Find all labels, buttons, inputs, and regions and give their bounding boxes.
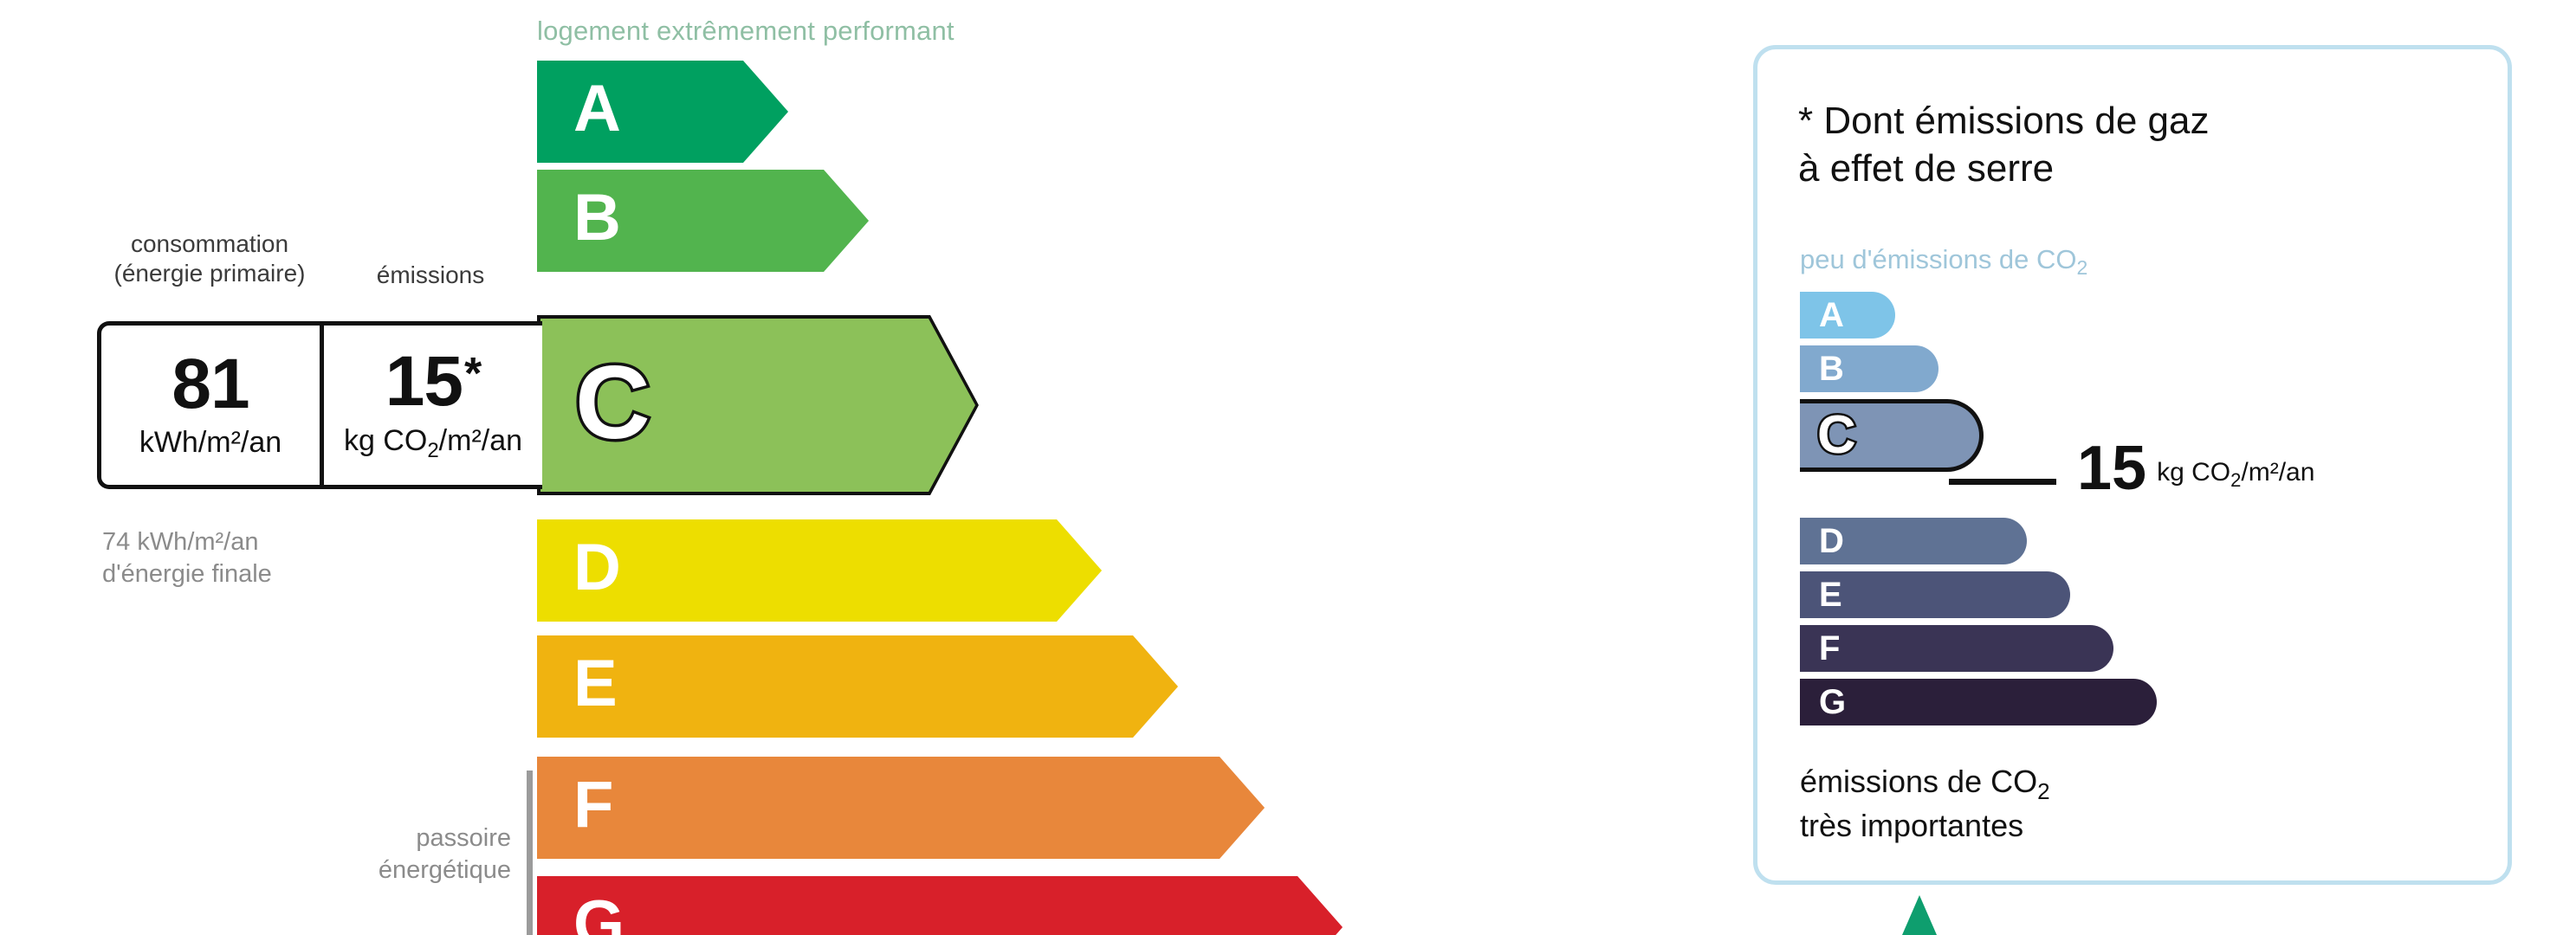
co2-scale-top-caption-text: peu d'émissions de CO xyxy=(1800,244,2077,274)
energy-class-letter-g: G xyxy=(573,892,625,935)
emission-unit-suffix: /m²/an xyxy=(439,424,522,457)
energy-class-letter-d: D xyxy=(573,535,621,601)
emission-asterisk: * xyxy=(464,351,481,397)
co2-value-number: 15 xyxy=(2077,440,2146,497)
consumption-value: 81 xyxy=(172,351,249,418)
co2-class-bar-e[interactable]: E xyxy=(1800,571,2070,618)
energy-class-bar-a[interactable]: A xyxy=(537,61,788,163)
co2-class-letter-g: G xyxy=(1819,683,1846,722)
co2-value-unit-prefix: kg CO xyxy=(2157,458,2230,487)
co2-class-letter-e: E xyxy=(1819,576,1842,615)
consumption-value-number: 81 xyxy=(172,351,249,418)
passoire-energetique-label: passoire énergétique xyxy=(286,822,511,887)
co2-card-title: * Dont émissions de gaz à effet de serre xyxy=(1798,97,2209,192)
consumption-header-label: consommation (énergie primaire) xyxy=(94,229,326,288)
energy-class-bar-f[interactable]: F xyxy=(537,757,1265,859)
co2-class-letter-a: A xyxy=(1819,296,1844,335)
final-energy-note: 74 kWh/m²/an d'énergie finale xyxy=(102,526,272,590)
emission-value-cell: 15* kg CO2/m²/an xyxy=(320,326,542,485)
co2-value-unit-suffix: /m²/an xyxy=(2241,458,2314,487)
energy-class-letter-b: B xyxy=(573,185,621,251)
co2-class-bar-c[interactable]: C xyxy=(1800,399,1984,472)
co2-footer-prefix: émissions de CO xyxy=(1800,764,2037,799)
co2-class-letter-d: D xyxy=(1819,522,1844,561)
co2-class-letter-c: C xyxy=(1817,409,1856,462)
passoire-bracket-line xyxy=(527,771,533,935)
energy-scale-top-caption: logement extrêmement performant xyxy=(537,16,955,47)
consumption-value-cell: 81 kWh/m²/an xyxy=(101,326,320,485)
emission-value-number: 15 xyxy=(385,348,463,416)
co2-value-callout: 15 kg CO2/m²/an xyxy=(2077,440,2314,497)
co2-class-bar-b[interactable]: B xyxy=(1800,345,1938,392)
energy-class-letter-e: E xyxy=(573,651,618,717)
co2-footer-line2: très importantes xyxy=(1800,808,2023,843)
co2-class-bar-f[interactable]: F xyxy=(1800,625,2113,672)
energy-consumption-panel: logement extrêmement performant A B C D … xyxy=(0,0,1646,935)
co2-class-bar-g[interactable]: G xyxy=(1800,679,2157,725)
co2-value-unit-subscript: 2 xyxy=(2230,469,2241,491)
emission-unit: kg CO2/m²/an xyxy=(344,424,522,463)
energy-class-bar-d[interactable]: D xyxy=(537,519,1102,622)
energy-class-bar-e[interactable]: E xyxy=(537,635,1178,738)
co2-class-letter-b: B xyxy=(1819,350,1844,389)
energy-class-letter-c: C xyxy=(575,351,650,455)
energy-class-bar-c[interactable]: C xyxy=(537,315,979,495)
energy-class-letter-f: F xyxy=(573,772,613,838)
co2-scale-top-caption-subscript: 2 xyxy=(2077,256,2088,279)
co2-value-leader-line xyxy=(1949,479,2056,485)
emission-value: 15* xyxy=(385,348,481,416)
co2-class-bar-d[interactable]: D xyxy=(1800,518,2027,564)
co2-class-bar-a[interactable]: A xyxy=(1800,292,1895,339)
co2-scale-bottom-caption: émissions de CO2très importantes xyxy=(1800,762,2050,845)
emission-unit-prefix: kg CO xyxy=(344,424,427,457)
co2-footer-subscript: 2 xyxy=(2037,778,2049,804)
co2-scale-top-caption: peu d'émissions de CO2 xyxy=(1800,244,2087,280)
emissions-header-label: émissions xyxy=(340,261,521,290)
co2-value-unit: kg CO2/m²/an xyxy=(2157,458,2314,492)
dpe-value-box: 81 kWh/m²/an 15* kg CO2/m²/an xyxy=(97,321,542,489)
energy-class-bar-g[interactable]: G xyxy=(537,876,1343,935)
green-arrow-tip-icon xyxy=(1902,895,1937,935)
energy-class-letter-a: A xyxy=(573,76,621,142)
emission-unit-subscript: 2 xyxy=(427,438,438,461)
consumption-unit: kWh/m²/an xyxy=(139,426,282,460)
co2-class-letter-f: F xyxy=(1819,629,1840,668)
dpe-energy-label: logement extrêmement performant A B C D … xyxy=(0,0,2576,935)
energy-class-bar-b[interactable]: B xyxy=(537,170,869,272)
